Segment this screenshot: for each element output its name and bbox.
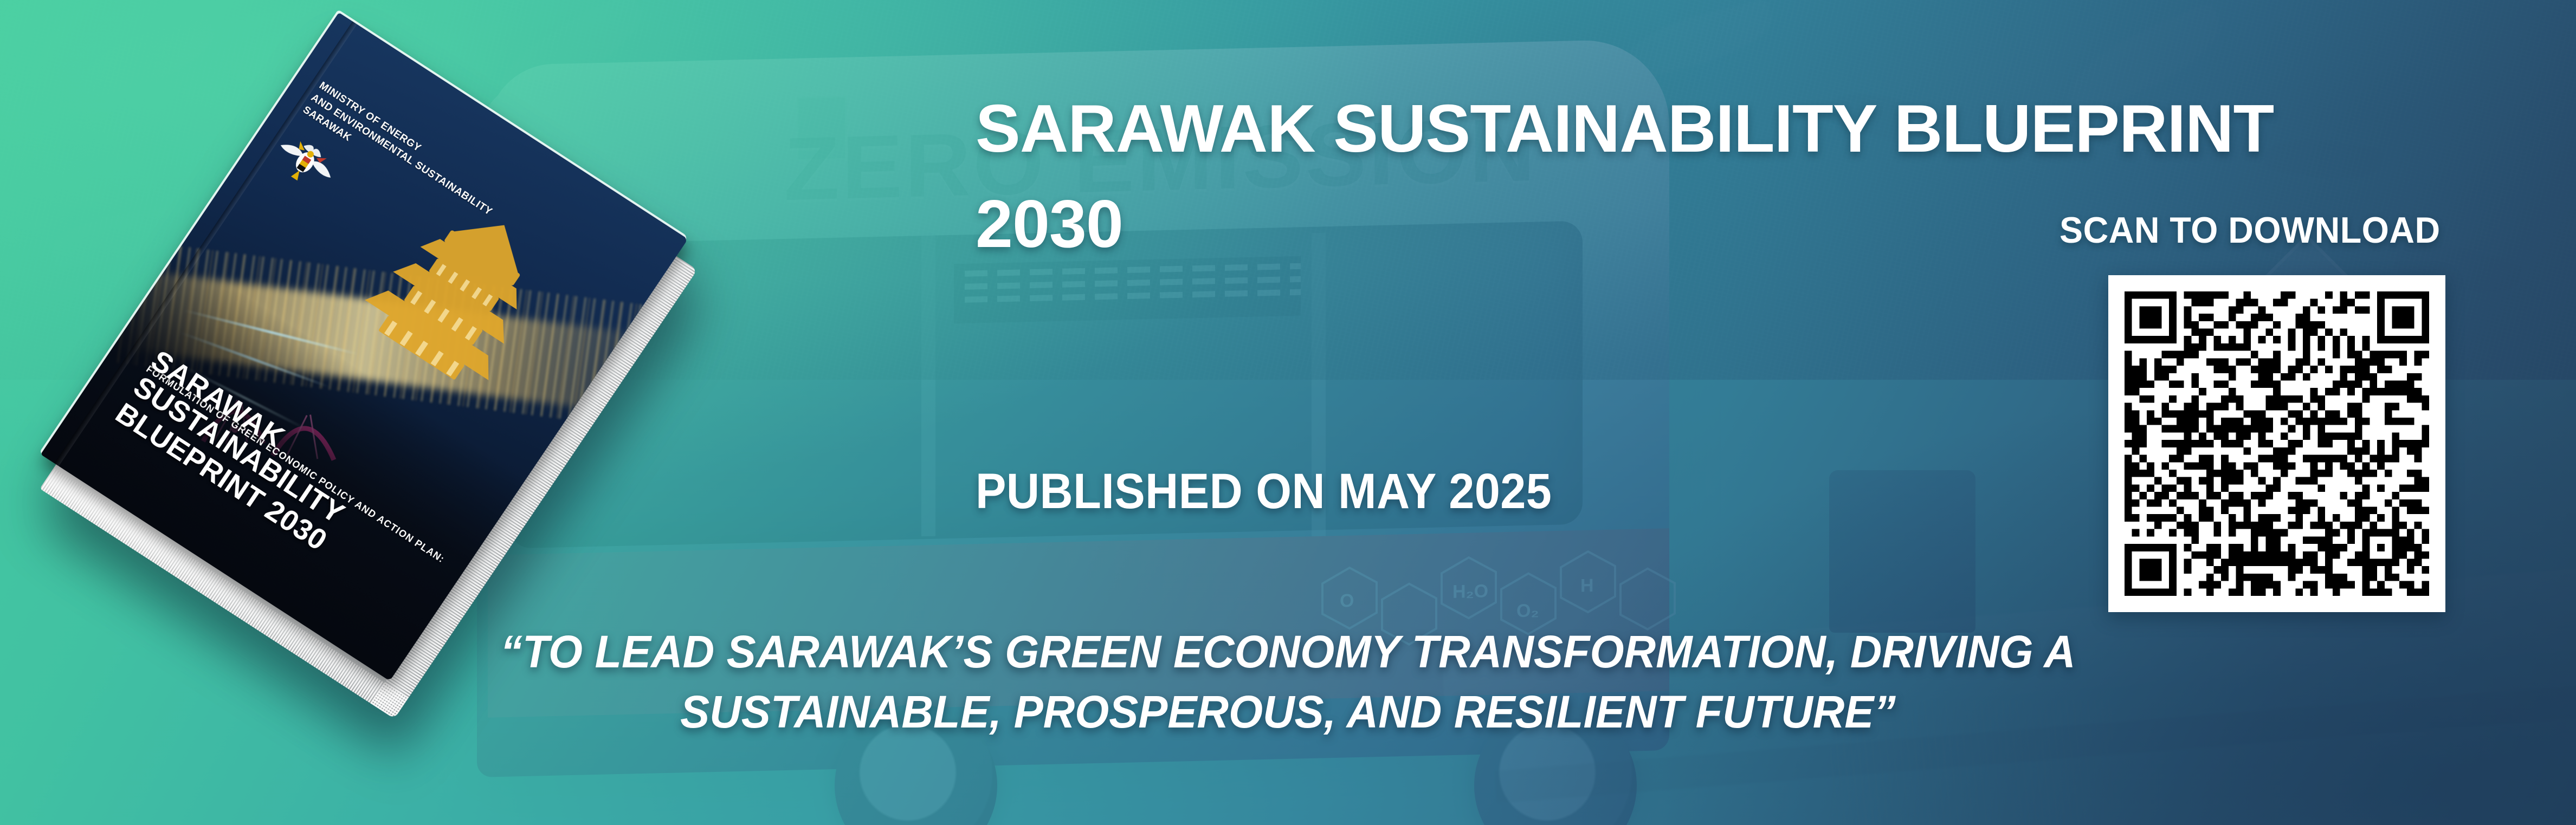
qr-code-image[interactable] xyxy=(2125,291,2429,596)
vision-quote: “TO LEAD SARAWAK’S GREEN ECONOMY TRANSFO… xyxy=(45,622,2531,742)
book-front-cover: MINISTRY OF ENERGY AND ENVIRONMENTAL SUS… xyxy=(41,12,688,681)
vision-quote-line-2: SUSTAINABLE, PROSPEROUS, AND RESILIENT F… xyxy=(45,682,2531,742)
vision-quote-line-1: “TO LEAD SARAWAK’S GREEN ECONOMY TRANSFO… xyxy=(45,622,2531,682)
publication-date: PUBLISHED ON MAY 2025 xyxy=(976,463,1552,520)
scan-to-download-label: SCAN TO DOWNLOAD xyxy=(2059,209,2441,251)
qr-code-card[interactable] xyxy=(2108,275,2445,612)
blueprint-book-mockup: MINISTRY OF ENERGY AND ENVIRONMENTAL SUS… xyxy=(108,70,829,699)
sustainability-blueprint-banner: ZERO EMISSION O H₂O H O₂ xyxy=(0,0,2576,825)
